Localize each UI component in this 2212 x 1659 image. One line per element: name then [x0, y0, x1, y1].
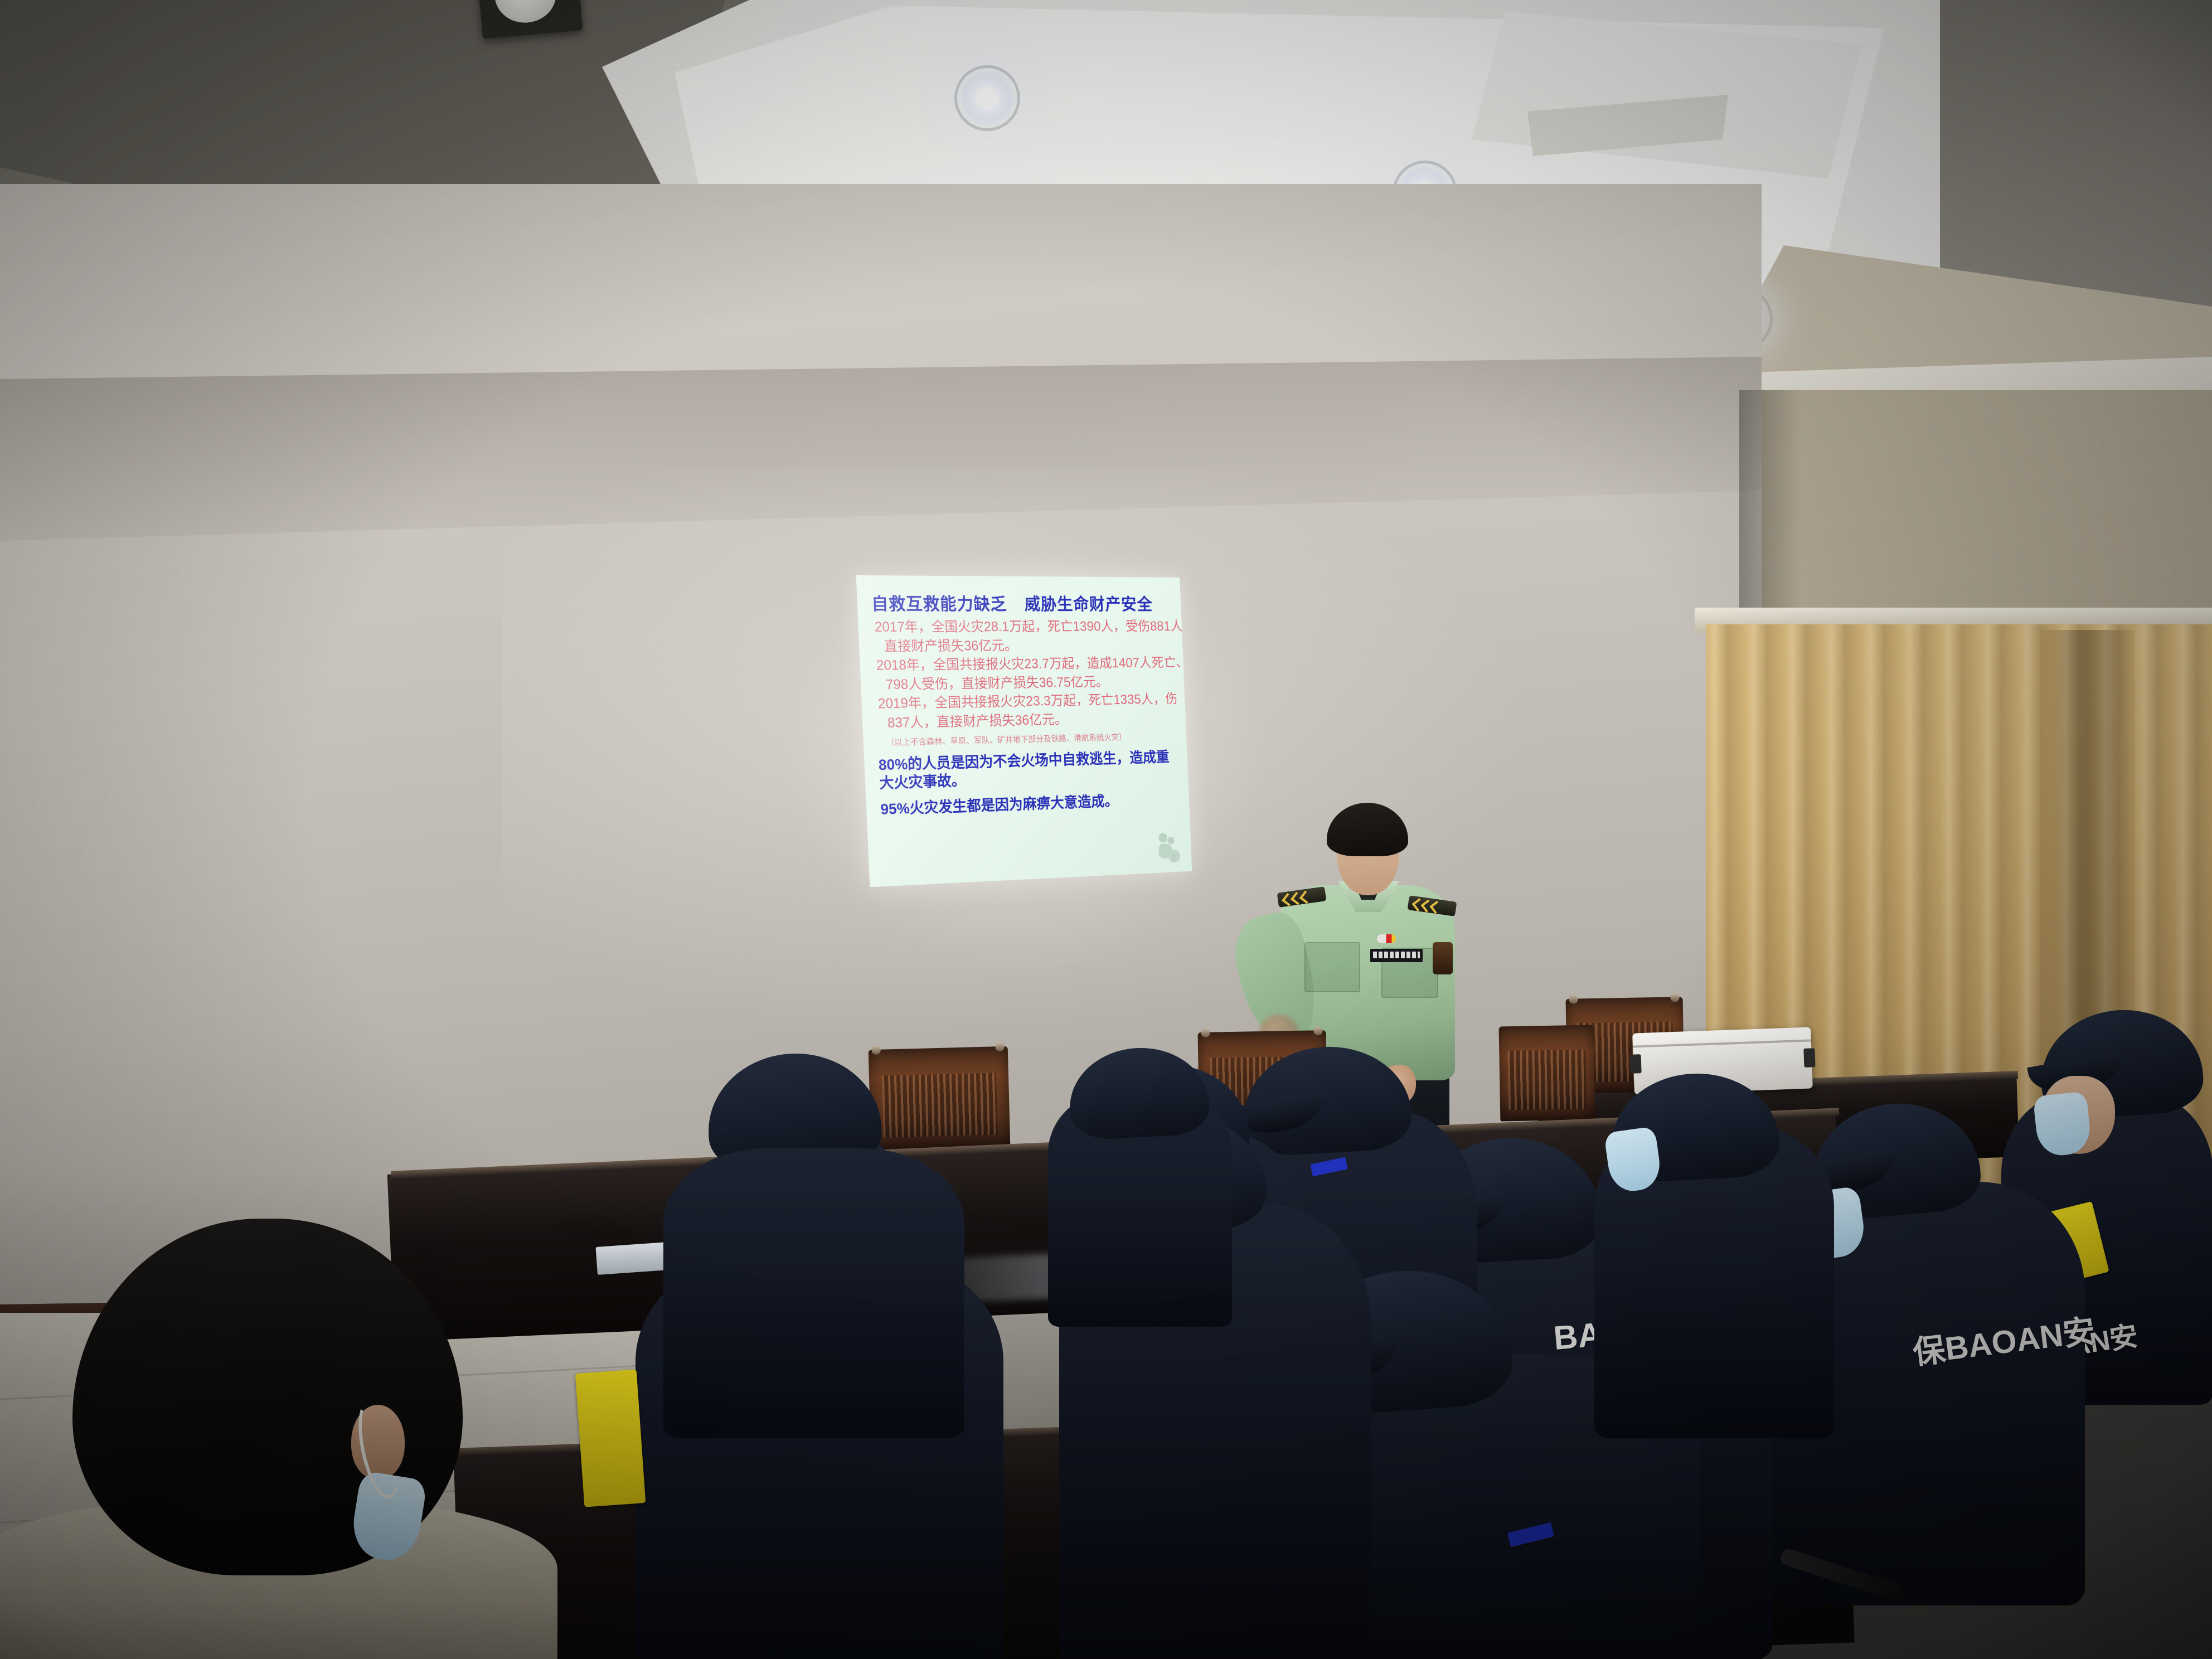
training-room-photo: 自救互救能力缺乏威胁生命财产安全 2017年，全国火灾28.1万起，死亡1390… — [0, 0, 2212, 1659]
slide-content: 自救互救能力缺乏威胁生命财产安全 2017年，全国火灾28.1万起，死亡1390… — [856, 575, 1192, 887]
projected-slide: 自救互救能力缺乏威胁生命财产安全 2017年，全国火灾28.1万起，死亡1390… — [856, 575, 1192, 887]
slide-title: 自救互救能力缺乏威胁生命财产安全 — [871, 590, 1170, 615]
slide-watermark-icon: 3 — [1153, 829, 1185, 867]
svg-text:3: 3 — [1171, 853, 1176, 863]
presenter-flag-pin-icon — [1377, 934, 1396, 943]
slide-stat-line: 2017年，全国火灾28.1万起，死亡1390人，受伤881人， — [874, 618, 1170, 636]
slide-title-right: 威胁生命财产安全 — [1024, 595, 1153, 614]
slide-stat-line: 798人受伤，直接财产损失36.75亿元。 — [885, 672, 1172, 693]
audience-armband — [575, 1369, 646, 1507]
slide-footnote: （以上不含森林、草原、军队、矿井地下部分及铁路、港航系统火灾） — [886, 730, 1175, 748]
presenter-chest-pocket-left — [1304, 942, 1360, 992]
slide-stat-line: 直接财产损失36亿元。 — [884, 636, 1171, 656]
clock-face-icon — [492, 0, 558, 25]
presenter-nametag — [1370, 949, 1423, 962]
slide-stat-line: 837人，直接财产损失36亿元。 — [887, 709, 1174, 732]
presenter-shoulder-badge — [1433, 942, 1453, 974]
chair-back — [1499, 1025, 1595, 1122]
ceiling-downlight-ring — [954, 65, 1020, 131]
slide-highlight-2: 95%火灾发生都是因为麻痹大意造成。 — [880, 790, 1178, 819]
chair-back — [869, 1046, 1011, 1150]
slide-stat-line: 2018年，全国共接报火灾23.7万起，造成1407人死亡、 — [876, 654, 1172, 675]
audience-torso — [663, 1148, 964, 1438]
slide-title-left: 自救互救能力缺乏 — [871, 594, 1007, 614]
